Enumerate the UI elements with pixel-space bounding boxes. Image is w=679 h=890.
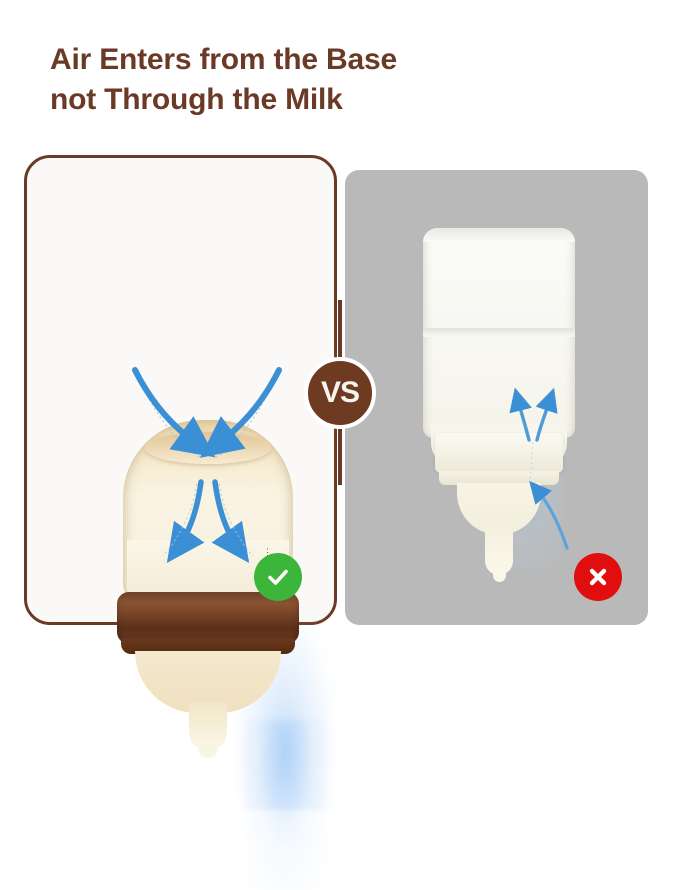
- nipple-teat: [189, 702, 227, 750]
- status-badge-rejected: [574, 553, 622, 601]
- correct-usage-panel: ⋮: [24, 155, 337, 625]
- versus-badge: VS: [304, 357, 376, 429]
- standard-bottle-inverted: [417, 228, 582, 583]
- nipple-teat: [485, 523, 513, 575]
- bottle-mid-ridge: [423, 328, 575, 337]
- bottle-base-vent-disc: [145, 432, 271, 464]
- bottle-base-rim: [423, 228, 575, 242]
- status-badge-approved: [254, 553, 302, 601]
- check-icon: [263, 562, 293, 592]
- airflow-glow-inner: [245, 720, 325, 890]
- comparison-figure: ⋮: [0, 0, 679, 679]
- bottle-collar-ring: [435, 433, 563, 473]
- cross-icon: [584, 563, 612, 591]
